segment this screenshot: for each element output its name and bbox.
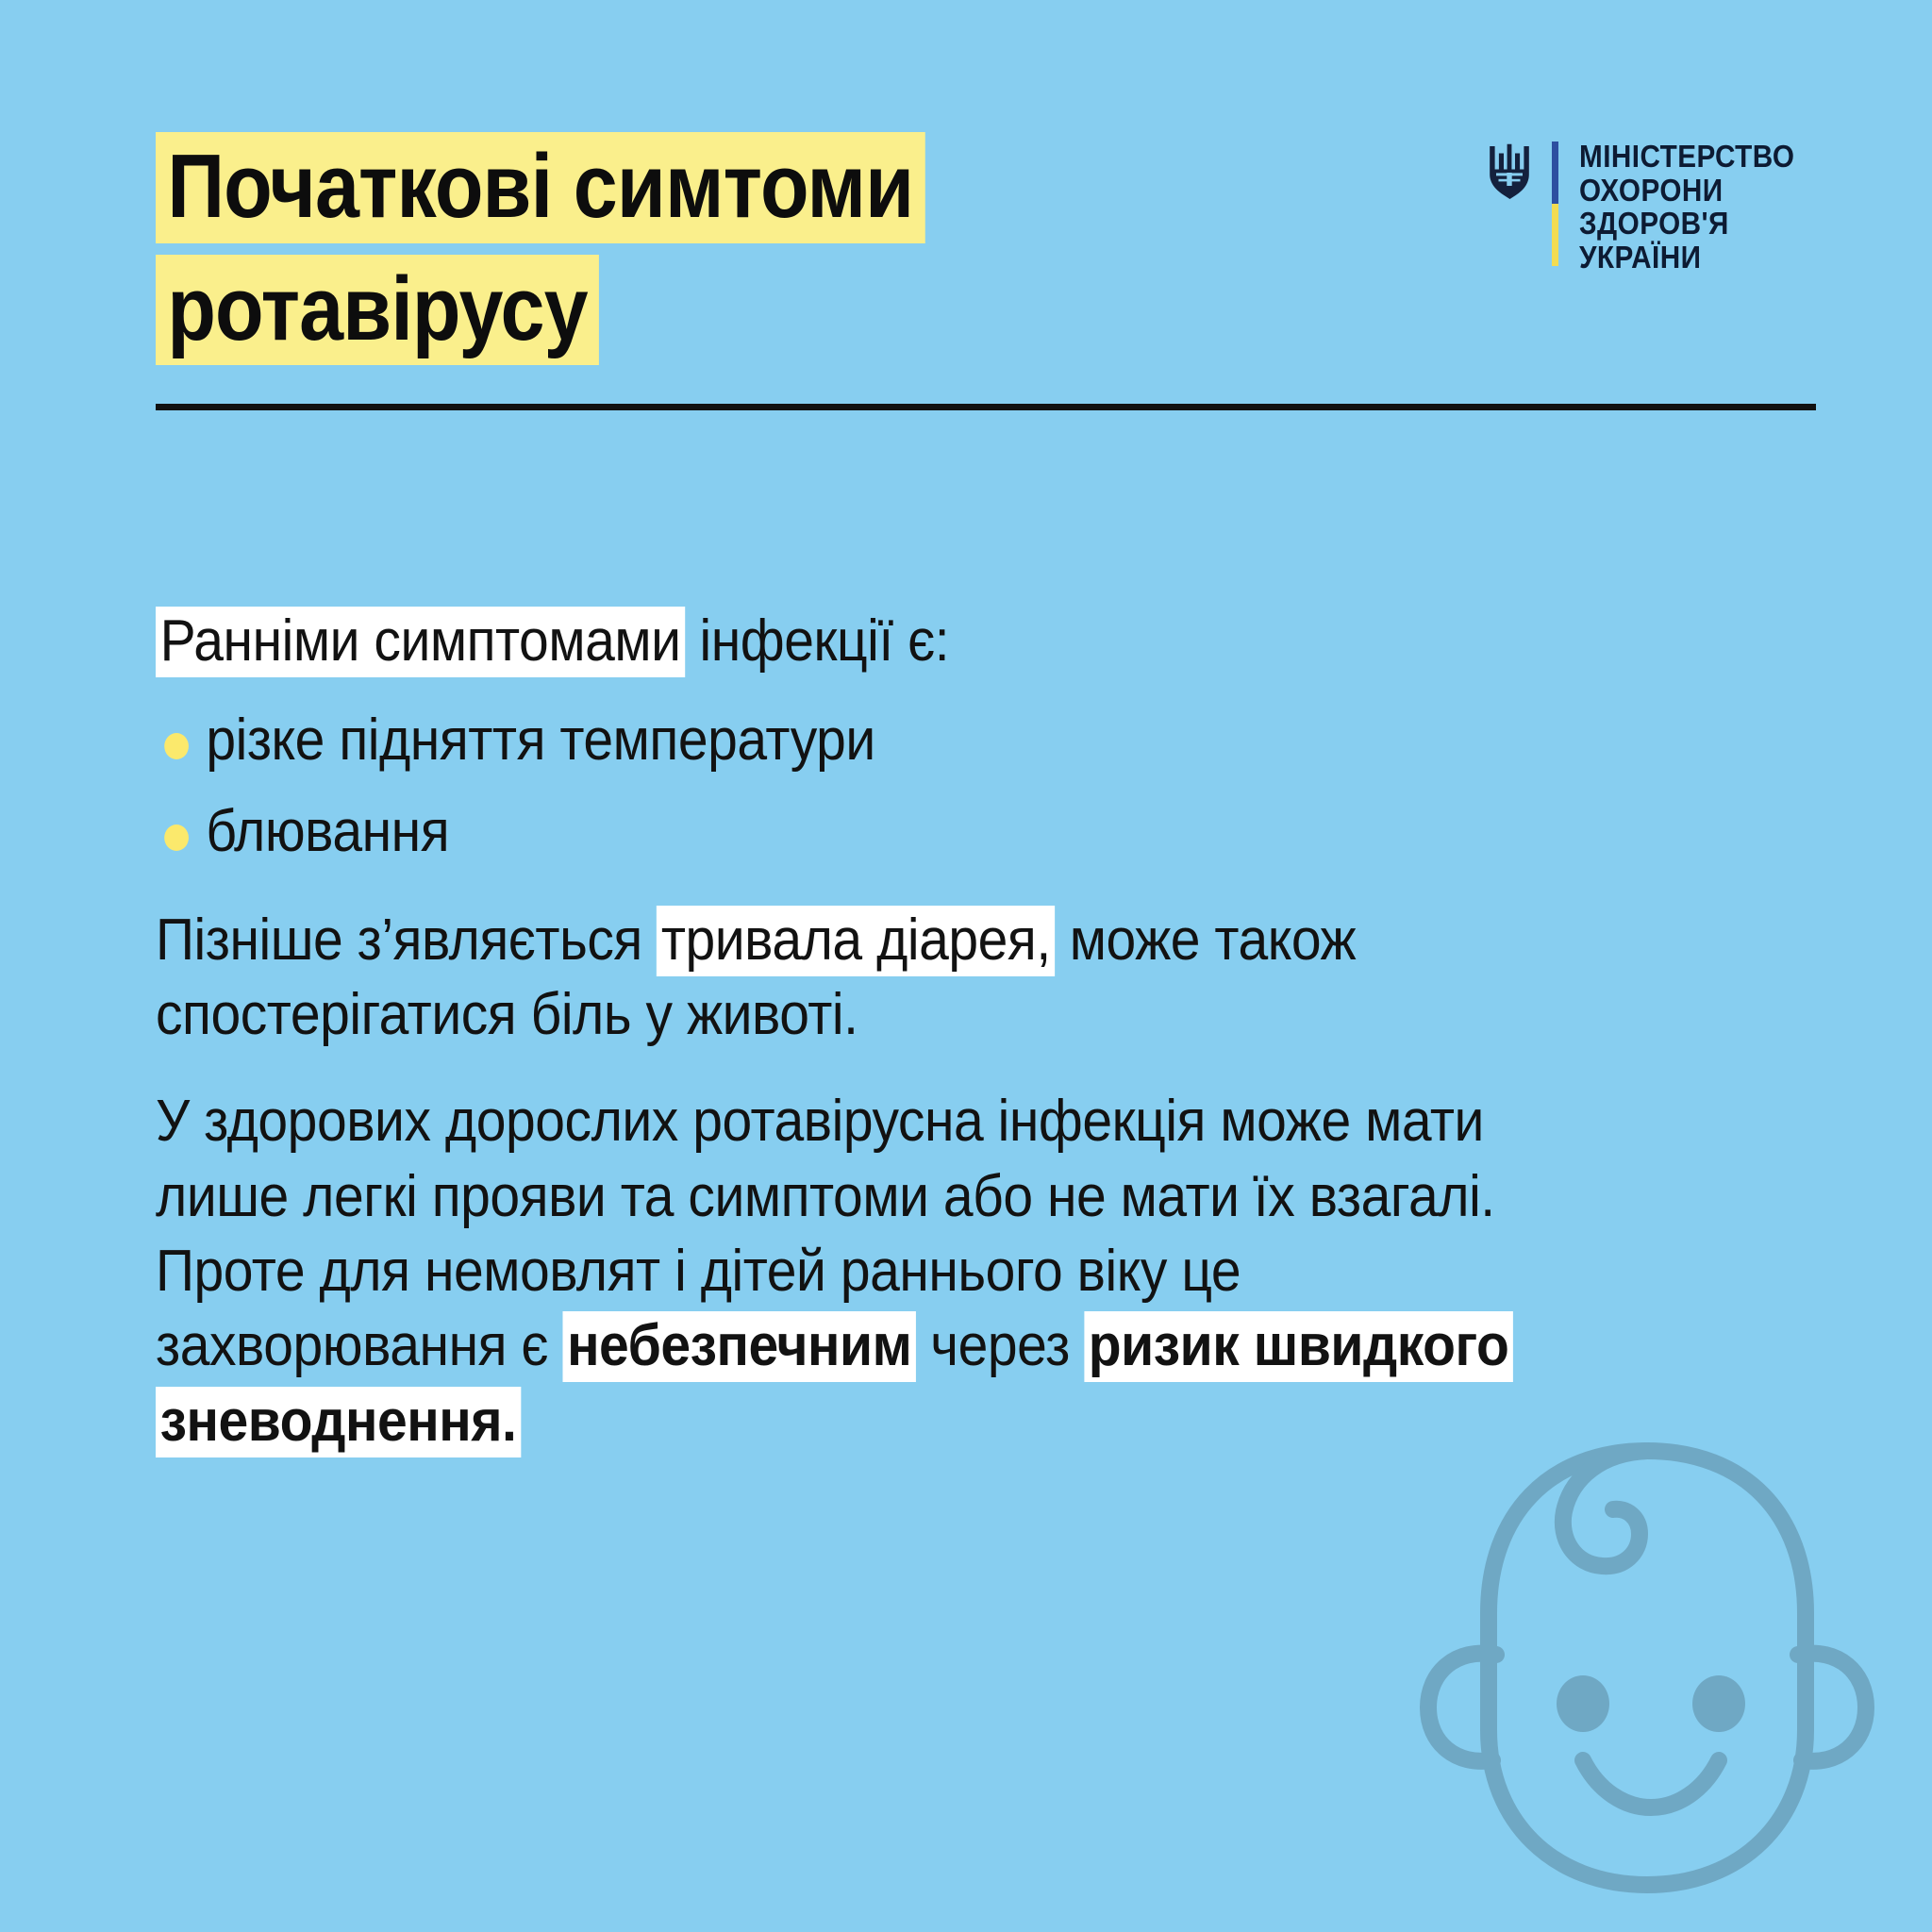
danger-highlight: небезпечним [562,1311,915,1382]
logo-line-3: ЗДОРОВ'Я [1579,207,1794,241]
list-item-label: блювання [206,799,449,864]
list-item-label: різке підняття температури [206,708,874,773]
logo-line-4: УКРАЇНИ [1579,241,1794,275]
ministry-logo: МІНІСТЕРСТВО ОХОРОНИ ЗДОРОВ'Я УКРАЇНИ [1488,140,1819,275]
logo-flag-divider [1552,142,1558,266]
poster-body: Ранніми симптомами інфекції є: різке під… [156,604,1684,1491]
page-title: Початкові симтоми ротавірусу [156,132,1030,376]
list-item: різке підняття температури [156,703,1561,779]
adults-middle: через [916,1313,1084,1378]
ukrainian-trident-icon [1488,143,1531,206]
bullet-dot-icon [164,733,189,759]
bullet-dot-icon [164,824,189,851]
symptom-list: різке підняття температури блювання [156,703,1684,870]
intro-rest: інфекції є: [685,608,949,674]
intro-paragraph: Ранніми симптомами інфекції є: [156,604,1561,678]
poster-header: Початкові симтоми ротавірусу МІНІСТЕРСТВ… [0,0,1932,434]
later-symptoms-paragraph: Пізніше з’являється тривала діарея, може… [156,903,1561,1053]
list-item: блювання [156,794,1561,871]
title-line-1: Початкові симтоми [156,132,1030,243]
title-line-1-text: Початкові симтоми [156,132,925,243]
poster-canvas: Початкові симтоми ротавірусу МІНІСТЕРСТВ… [0,0,1932,1932]
intro-highlight: Ранніми симптомами [156,607,685,677]
later-highlight: тривала діарея, [657,906,1055,976]
adults-children-paragraph: У здорових дорослих ротавірусна інфекція… [156,1084,1561,1458]
logo-line-2: ОХОРОНИ [1579,174,1794,208]
header-divider [156,404,1816,410]
title-line-2-text: ротавірусу [156,255,599,366]
logo-line-1: МІНІСТЕРСТВО [1579,140,1794,174]
logo-text-block: МІНІСТЕРСТВО ОХОРОНИ ЗДОРОВ'Я УКРАЇНИ [1579,140,1794,275]
later-before: Пізніше з’являється [156,908,657,973]
title-line-2: ротавірусу [156,255,1030,366]
